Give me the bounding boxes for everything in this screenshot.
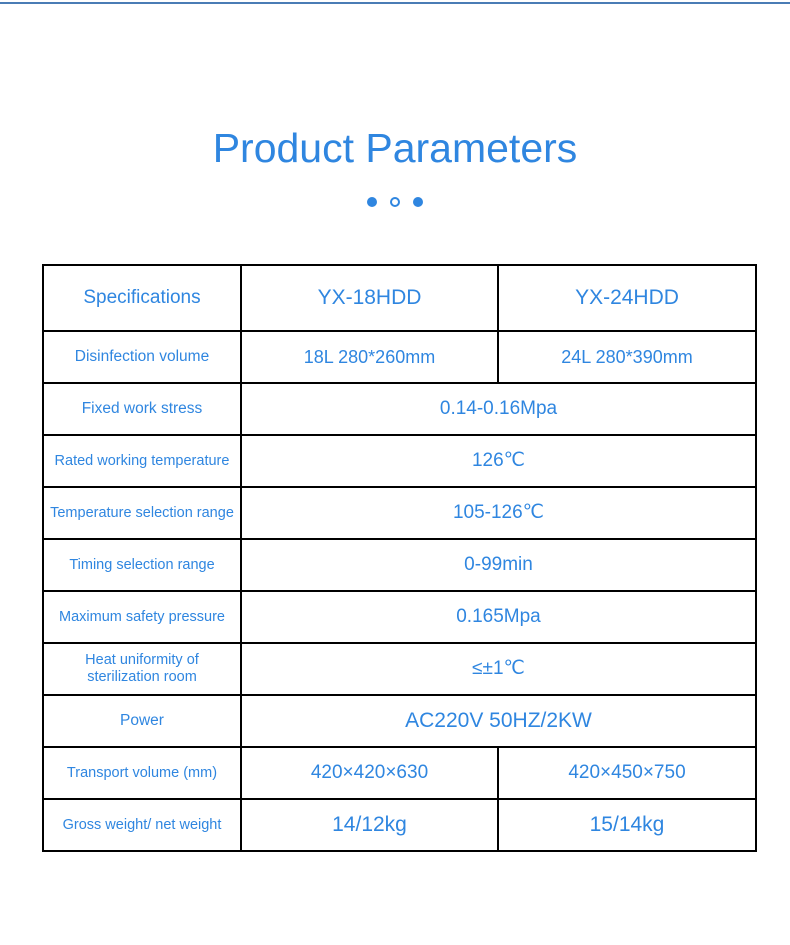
row-value-b: 420×450×750	[498, 747, 756, 799]
header-specifications: Specifications	[43, 265, 241, 331]
product-parameters-table: Specifications YX-18HDD YX-24HDD Disinfe…	[42, 264, 757, 852]
table-row: Heat uniformity of sterilization room ≤±…	[43, 643, 756, 695]
spec-table-container: Specifications YX-18HDD YX-24HDD Disinfe…	[42, 264, 755, 852]
row-value-merged: 0.165Mpa	[241, 591, 756, 643]
row-value-b: 24L 280*390mm	[498, 331, 756, 383]
row-value-a: 420×420×630	[241, 747, 498, 799]
row-label: Fixed work stress	[43, 383, 241, 435]
table-row: Maximum safety pressure 0.165Mpa	[43, 591, 756, 643]
row-label: Heat uniformity of sterilization room	[43, 643, 241, 695]
row-label: Rated working temperature	[43, 435, 241, 487]
row-value-merged: AC220V 50HZ/2KW	[241, 695, 756, 747]
table-row: Gross weight/ net weight 14/12kg 15/14kg	[43, 799, 756, 851]
row-label: Timing selection range	[43, 539, 241, 591]
row-value-b: 15/14kg	[498, 799, 756, 851]
dot-1-icon	[367, 197, 377, 207]
row-label: Disinfection volume	[43, 331, 241, 383]
row-value-merged: 126℃	[241, 435, 756, 487]
header-model-b: YX-24HDD	[498, 265, 756, 331]
table-header-row: Specifications YX-18HDD YX-24HDD	[43, 265, 756, 331]
row-value-merged: ≤±1℃	[241, 643, 756, 695]
table-row: Transport volume (mm) 420×420×630 420×45…	[43, 747, 756, 799]
dot-2-icon	[390, 197, 400, 207]
row-value-merged: 0.14-0.16Mpa	[241, 383, 756, 435]
table-row: Timing selection range 0-99min	[43, 539, 756, 591]
table-row: Fixed work stress 0.14-0.16Mpa	[43, 383, 756, 435]
row-label: Gross weight/ net weight	[43, 799, 241, 851]
page-title: Product Parameters	[0, 122, 790, 174]
dot-3-icon	[413, 197, 423, 207]
table-row: Temperature selection range 105-126℃	[43, 487, 756, 539]
product-parameters-page: Product Parameters Specifications YX-18H…	[0, 0, 790, 945]
row-label: Power	[43, 695, 241, 747]
row-label: Maximum safety pressure	[43, 591, 241, 643]
table-row: Rated working temperature 126℃	[43, 435, 756, 487]
row-value-a: 14/12kg	[241, 799, 498, 851]
table-row: Power AC220V 50HZ/2KW	[43, 695, 756, 747]
row-label: Transport volume (mm)	[43, 747, 241, 799]
row-value-a: 18L 280*260mm	[241, 331, 498, 383]
row-label: Temperature selection range	[43, 487, 241, 539]
row-value-merged: 0-99min	[241, 539, 756, 591]
dot-separator	[0, 197, 790, 207]
row-value-merged: 105-126℃	[241, 487, 756, 539]
header-model-a: YX-18HDD	[241, 265, 498, 331]
table-row: Disinfection volume 18L 280*260mm 24L 28…	[43, 331, 756, 383]
